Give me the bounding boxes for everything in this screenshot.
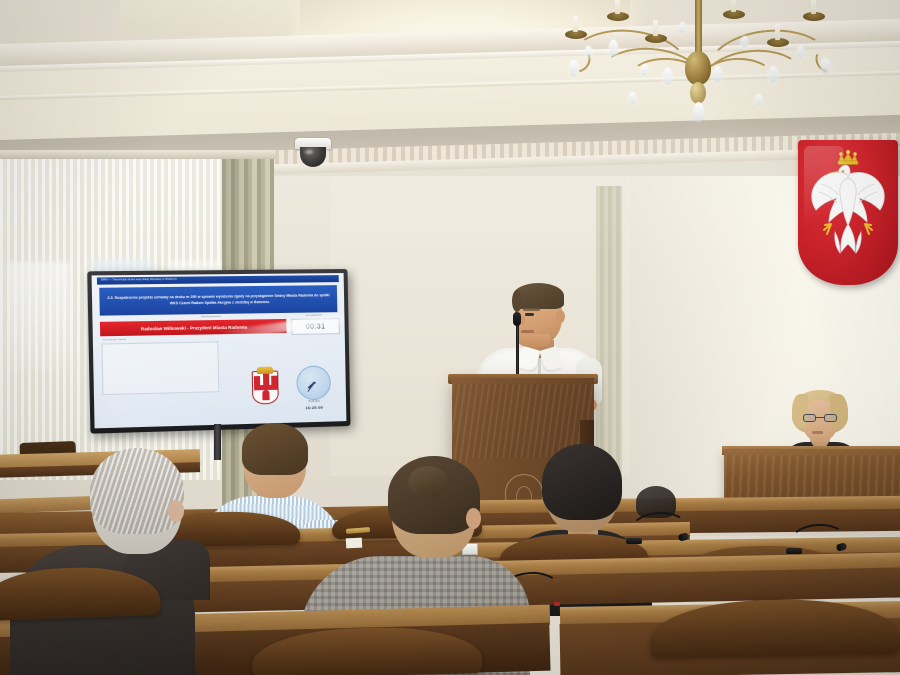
- chandelier-crystal: [755, 94, 762, 106]
- crest-tower-left: [254, 376, 260, 385]
- chandelier-stem: [695, 0, 702, 58]
- chandelier-crystal: [663, 68, 672, 85]
- chandelier-crystal: [769, 66, 778, 83]
- camera-dome: [300, 147, 326, 167]
- clock-time: 16:20:09: [293, 404, 335, 410]
- timer-caption-label: Czas wystąpienia: [305, 314, 321, 316]
- radom-crest-icon: [252, 371, 279, 405]
- speaker-list-box: [101, 341, 219, 395]
- speaker-eyebrow: [523, 308, 540, 311]
- screen-header-bar: BRM — Transmisja obrad sesji Rady Miejsk…: [97, 275, 339, 285]
- crest-tower-center: [262, 374, 268, 385]
- curtain-rod: [0, 150, 276, 159]
- podium-microphone-head: [513, 312, 521, 326]
- speech-timer: 00:31: [291, 318, 339, 335]
- chandelier-crystal: [585, 46, 592, 58]
- camera-glint: [305, 150, 313, 154]
- chandelier-candle: [615, 0, 620, 14]
- audience-ear: [466, 508, 481, 529]
- council-chamber-photo: BRM — Transmisja obrad sesji Rady Miejsk…: [0, 0, 900, 675]
- chandelier-crystal: [713, 66, 722, 83]
- audience-hair-dark: [542, 444, 622, 520]
- paper-document: [346, 538, 363, 549]
- crest-gate: [262, 390, 269, 400]
- crest-crown: [257, 367, 273, 374]
- bench-microphone[interactable]: [630, 512, 690, 546]
- glasses-lens-left: [803, 414, 816, 422]
- ceiling-recess-left: [120, 0, 320, 36]
- chandelier-crystal: [569, 60, 578, 77]
- chandelier-crystal: [741, 36, 748, 48]
- polish-coat-of-arms: [798, 140, 898, 285]
- speaker-caption-label: Aktualnie przemawia: [201, 316, 221, 318]
- mic-indicator-light: [554, 602, 560, 606]
- chandelier-candle: [573, 16, 578, 32]
- chandelier-candle: [653, 20, 658, 36]
- tv-stand: [214, 424, 221, 460]
- chandelier: [545, 0, 865, 126]
- chandelier-candle: [731, 0, 736, 12]
- speaker-name-banner: Radosław Witkowski - Prezydent Miasta Ra…: [100, 319, 287, 336]
- woman-mouth: [812, 431, 823, 434]
- speaker-ear: [556, 310, 565, 323]
- audience-hair-grey: [90, 448, 184, 534]
- chandelier-crystal: [641, 64, 648, 76]
- glasses-bridge: [816, 417, 824, 418]
- chandelier-candle: [811, 0, 816, 14]
- chandelier-ball: [690, 82, 706, 104]
- speaker-list-label: Lista mówców / zapisani: [102, 339, 126, 341]
- chandelier-crystal: [821, 58, 830, 75]
- speaker-eye: [525, 313, 534, 316]
- tv-screen[interactable]: BRM — Transmisja obrad sesji Rady Miejsk…: [92, 273, 347, 428]
- mic-capsule: [836, 542, 848, 551]
- audience-hair-bun: [408, 466, 448, 498]
- mic-capsule: [678, 532, 690, 541]
- clock-date: 25.08.2022: [297, 400, 331, 403]
- screen-header-text: BRM — Transmisja obrad sesji Rady Miejsk…: [97, 275, 339, 282]
- woman-hair-left: [792, 394, 808, 428]
- window-light-patch: [8, 262, 70, 370]
- crest-shield: [252, 371, 279, 405]
- chandelier-crystal: [629, 92, 636, 104]
- agenda-item-text: 2.3. Rozpatrzenie projektu uchwały na dr…: [106, 293, 331, 307]
- dome-camera-icon: [295, 138, 331, 172]
- audience-hair: [242, 423, 308, 475]
- chandelier-finial-crystal: [693, 102, 704, 122]
- speech-timer-value: 00:31: [306, 323, 326, 330]
- mic-base: [626, 538, 642, 544]
- speaker-name-text: Radosław Witkowski - Prezydent Miasta Ra…: [141, 324, 247, 331]
- woman-hair-right: [830, 394, 848, 430]
- chandelier-candle: [775, 24, 780, 40]
- mic-base: [786, 548, 802, 554]
- coa-glare: [804, 146, 844, 241]
- chandelier-crystal: [679, 22, 686, 34]
- chandelier-body: [685, 51, 711, 85]
- crest-tower-right: [271, 376, 277, 385]
- analog-clock-icon: [296, 365, 331, 400]
- audience-ear: [168, 500, 184, 522]
- speaker-mouth: [521, 330, 534, 333]
- podium-microphone-stem: [516, 320, 519, 382]
- chandelier-crystal: [609, 40, 618, 57]
- woman-glasses-icon: [803, 414, 837, 422]
- presentation-screen[interactable]: BRM — Transmisja obrad sesji Rady Miejsk…: [87, 269, 350, 434]
- glasses-lens-right: [824, 414, 837, 422]
- chandelier-crystal: [797, 46, 804, 58]
- agenda-item-banner: 2.3. Rozpatrzenie projektu uchwały na dr…: [99, 285, 337, 316]
- speaker-hair-side: [512, 290, 522, 312]
